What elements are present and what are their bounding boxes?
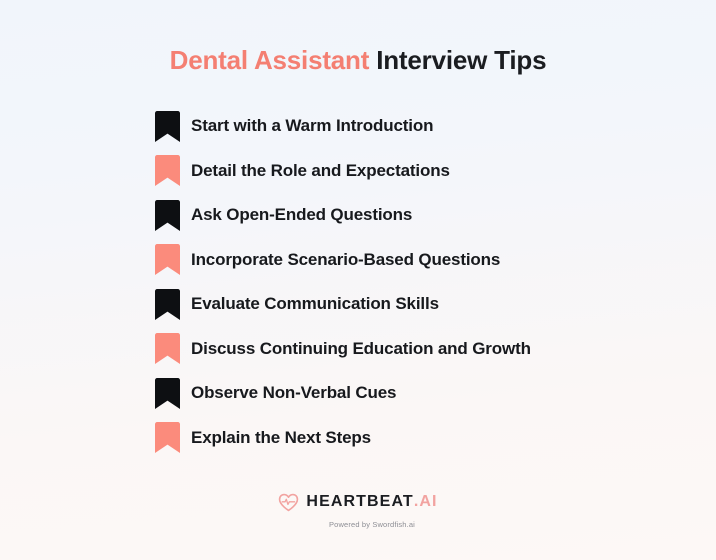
list-item-label: Ask Open-Ended Questions: [191, 204, 412, 226]
page-title-accent: Dental Assistant: [170, 45, 370, 75]
list-item-label: Explain the Next Steps: [191, 427, 371, 449]
list-item: Start with a Warm Introduction: [155, 104, 675, 149]
list-item-label: Observe Non-Verbal Cues: [191, 382, 396, 404]
bookmark-icon: [155, 333, 180, 364]
bookmark-icon: [155, 200, 180, 231]
tips-list: Start with a Warm Introduction Detail th…: [155, 104, 675, 460]
footer-branding: HEARTBEAT.AI Powered by Swordfish.ai: [0, 491, 716, 530]
list-item-label: Discuss Continuing Education and Growth: [191, 338, 531, 360]
list-item-label: Start with a Warm Introduction: [191, 115, 433, 137]
list-item-label: Incorporate Scenario-Based Questions: [191, 249, 500, 271]
page-title-main: Interview Tips: [369, 45, 546, 75]
list-item: Ask Open-Ended Questions: [155, 193, 675, 238]
list-item: Incorporate Scenario-Based Questions: [155, 238, 675, 283]
heart-pulse-icon: [278, 493, 299, 512]
list-item-label: Evaluate Communication Skills: [191, 293, 439, 315]
bookmark-icon: [155, 378, 180, 409]
list-item: Evaluate Communication Skills: [155, 282, 675, 327]
bookmark-icon: [155, 289, 180, 320]
bookmark-icon: [155, 155, 180, 186]
logo-wordmark: HEARTBEAT: [306, 493, 413, 511]
list-item: Discuss Continuing Education and Growth: [155, 327, 675, 372]
infographic-canvas: Dental Assistant Interview Tips Start wi…: [0, 0, 716, 560]
page-title: Dental Assistant Interview Tips: [0, 44, 716, 76]
bookmark-icon: [155, 244, 180, 275]
bookmark-icon: [155, 111, 180, 142]
list-item: Explain the Next Steps: [155, 416, 675, 461]
list-item: Detail the Role and Expectations: [155, 149, 675, 194]
powered-by-text: Powered by Swordfish.ai: [0, 519, 716, 530]
logo-lockup: HEARTBEAT.AI: [278, 491, 437, 513]
logo-tld: .AI: [414, 493, 438, 511]
list-item: Observe Non-Verbal Cues: [155, 371, 675, 416]
bookmark-icon: [155, 422, 180, 453]
list-item-label: Detail the Role and Expectations: [191, 160, 450, 182]
